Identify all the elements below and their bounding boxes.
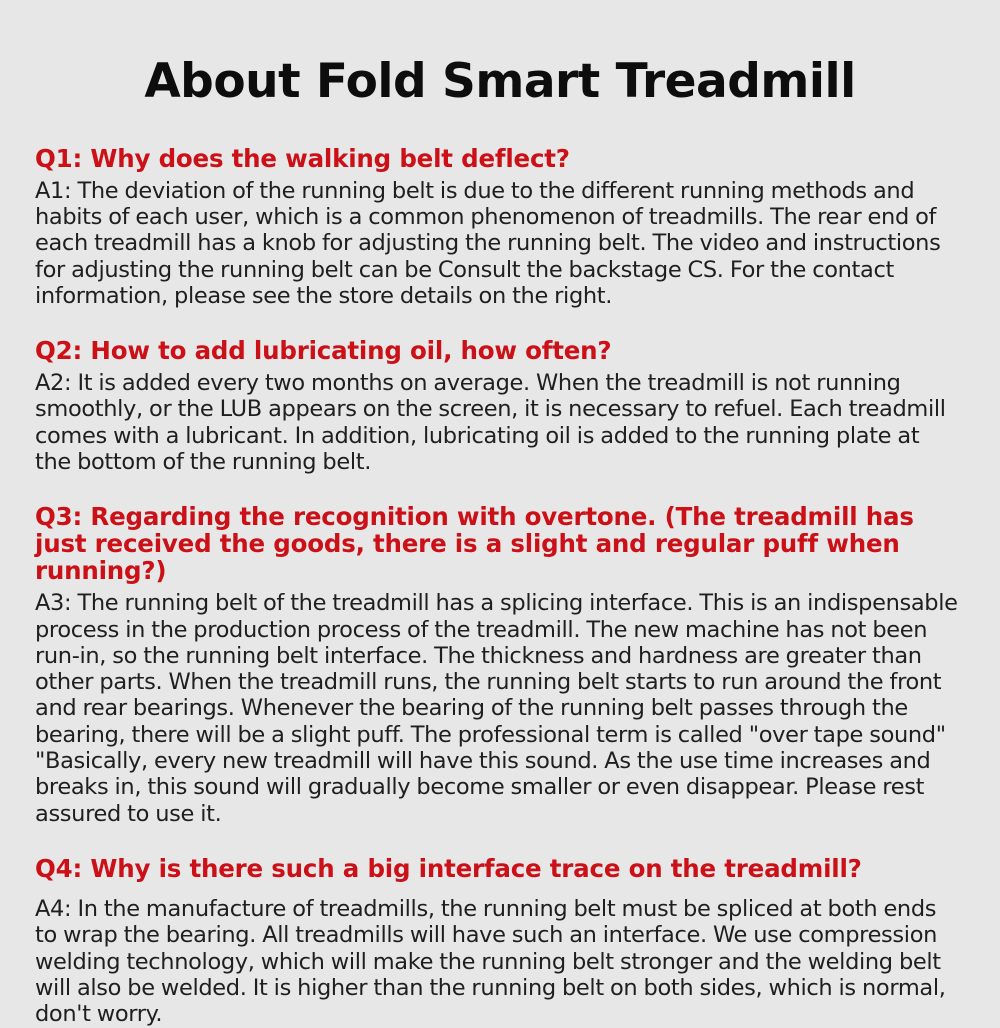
faq-page: About Fold Smart Treadmill Q1: Why does … bbox=[0, 0, 1000, 1000]
faq-list: Q1: Why does the walking belt deflect? A… bbox=[25, 146, 975, 1028]
faq-question: Q2: How to add lubricating oil, how ofte… bbox=[35, 338, 961, 365]
faq-question: Q4: Why is there such a big interface tr… bbox=[35, 856, 961, 883]
faq-item: Q2: How to add lubricating oil, how ofte… bbox=[35, 338, 961, 475]
faq-answer: A1: The deviation of the running belt is… bbox=[35, 178, 961, 310]
faq-item: Q3: Regarding the recognition with overt… bbox=[35, 504, 961, 827]
faq-question: Q3: Regarding the recognition with overt… bbox=[35, 504, 961, 585]
page-title: About Fold Smart Treadmill bbox=[25, 0, 975, 108]
faq-question: Q1: Why does the walking belt deflect? bbox=[35, 146, 961, 173]
faq-answer: A2: It is added every two months on aver… bbox=[35, 370, 961, 475]
faq-answer: A4: In the manufacture of treadmills, th… bbox=[35, 896, 961, 1028]
faq-item: Q4: Why is there such a big interface tr… bbox=[35, 856, 961, 1028]
faq-item: Q1: Why does the walking belt deflect? A… bbox=[35, 146, 961, 310]
faq-answer: A3: The running belt of the treadmill ha… bbox=[35, 590, 961, 827]
